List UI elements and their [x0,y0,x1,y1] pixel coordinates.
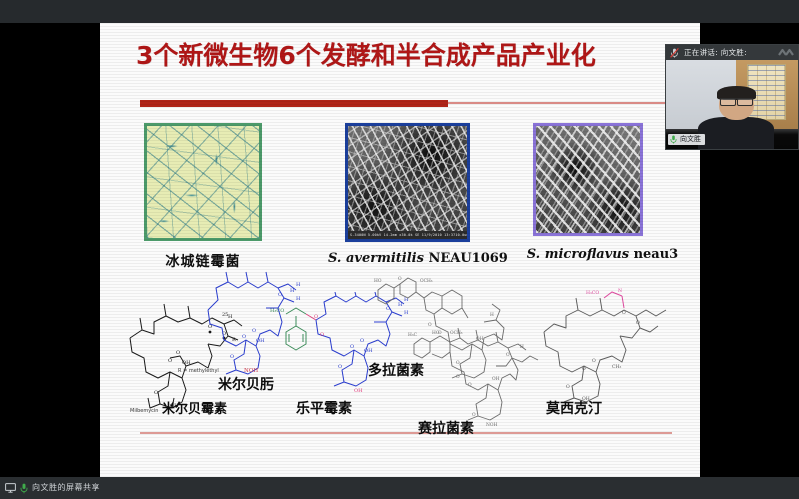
screen-share-status-label: 向文胜的屏幕共享 [32,484,100,492]
meeting-bottom-bar[interactable]: 向文胜的屏幕共享 [0,477,799,499]
svg-text:CH₃: CH₃ [612,364,622,370]
svg-text:H₃CO: H₃CO [270,308,284,314]
speaker-video-panel[interactable]: 正在讲话: 向文胜: [665,44,799,150]
svg-text:O: O [622,310,626,316]
svg-text:OH: OH [256,338,265,344]
svg-text:O: O [320,332,324,338]
mic-icon [670,135,677,144]
species-italic: S. avermitilis [328,251,424,266]
svg-text:O: O [230,354,234,360]
strain-plain: NEAU1069 [424,251,508,266]
micrograph-s-avermitilis: S-3400N 5.00kV 14.2mm x30.0k SE 11/9/201… [328,123,488,242]
svg-text:OH: OH [182,360,191,366]
sem-info-strip: S-3400N 5.00kV 14.2mm x30.0k SE 11/9/201… [348,231,467,239]
speaker-glasses [720,98,753,104]
svg-text:O: O [176,350,180,356]
speaker-video-feed[interactable]: 向文胜 [666,60,798,150]
compound-label-milbemycin: 米尔贝霉素 [162,398,227,417]
speaker-video-header[interactable]: 正在讲话: 向文胜: [666,45,798,60]
shared-slide: 3个新微生物6个发酵和半合成产品产业化 冰城链霉菌 S-3400N 5.00kV… [100,23,700,477]
compound-label-doramectin: 多拉菌素 [368,360,424,380]
svg-text:O: O [168,358,172,364]
svg-text:H: H [296,282,301,288]
svg-text:O: O [350,344,354,350]
mic-muted-icon[interactable] [670,48,679,58]
micrograph-image [147,126,259,238]
svg-text:O: O [360,338,364,344]
compound-r-note: R = methylethyl [178,368,219,374]
micrograph-caption: 冰城链霉菌 [138,251,268,271]
svg-text:H₃CO: H₃CO [586,290,599,296]
svg-text:O: O [398,277,402,282]
sem-info-left: S-3400N 5.00kV 14.2mm x30.0k SE 11/9/201… [350,233,455,237]
structure-moxidectin: H₃CON OO OO CH₃OH O [538,284,673,406]
svg-text:O: O [506,353,510,358]
speaker-banner-label: 正在讲话: 向文胜: [684,49,747,57]
svg-text:OH: OH [492,377,500,382]
micrograph-frame [533,123,643,236]
svg-text:OCH₃: OCH₃ [420,279,433,284]
micrograph-image [348,126,467,239]
svg-text:O: O [456,375,460,380]
species-italic: S. microflavus [527,247,629,262]
compound-label-lepimectin: 乐平霉素 [296,398,352,418]
svg-text:O: O [566,384,570,390]
compound-label-milbemycin-oxime: 米尔贝肟 [218,374,274,394]
svg-text:O: O [314,314,318,320]
mic-icon [20,483,28,494]
svg-text:N: N [618,288,622,294]
sem-scale-bar: 10.0um [455,233,468,237]
micrograph-row: 冰城链霉菌 S-3400N 5.00kV 14.2mm x30.0k SE 11… [100,123,700,283]
svg-text:HO: HO [432,331,440,336]
micrograph-bingcheng-streptomyces: 冰城链霉菌 [138,123,268,241]
svg-text:OCH₃: OCH₃ [450,331,463,336]
compound-label-moxidectin: 莫西克汀 [546,398,602,418]
svg-text:H₃C: H₃C [408,333,418,338]
title-rule-thick [140,100,448,107]
micrograph-caption: S. avermitilis NEAU1069 [328,251,488,266]
svg-text:HO: HO [374,279,382,284]
compound-latin-name: Milbemycin [130,408,158,414]
micrograph-caption: S. microflavus neau3 [520,247,685,262]
svg-text:O: O [338,364,342,370]
micrograph-frame: S-3400N 5.00kV 14.2mm x30.0k SE 11/9/201… [345,123,470,242]
monitor-icon [5,483,16,493]
chevron-collapse-icon[interactable] [778,48,794,57]
compound-label-selamectin: 赛拉菌素 [418,418,474,438]
svg-text:NOH: NOH [486,423,497,428]
svg-text:H: H [520,345,524,350]
svg-text:O: O [154,390,158,396]
svg-text:O: O [468,383,472,388]
svg-text:O: O [636,320,640,326]
svg-text:H: H [490,313,494,318]
svg-text:O: O [252,328,256,334]
svg-text:OH: OH [354,388,363,394]
compound-row: OO HR 25 OO OHOH O R = methylethyl Milbe… [100,278,700,433]
micrograph-image [536,126,640,233]
speaker-body [698,117,775,150]
screen-share-viewer: 3个新微生物6个发酵和半合成产品产业化 冰城链霉菌 S-3400N 5.00kV… [0,0,799,499]
strain-plain: neau3 [629,247,678,262]
meeting-top-bar [0,0,799,23]
participant-name-label: 向文胜 [680,136,701,143]
micrograph-s-microflavus: S. microflavus neau3 [520,123,685,236]
svg-text:O: O [582,366,586,372]
footer-rule [140,432,672,434]
video-panel-controls[interactable] [778,48,794,57]
participant-name-badge: 向文胜 [668,134,705,145]
slide-title: 3个新微生物6个发酵和半合成产品产业化 [136,41,696,71]
micrograph-frame [144,123,262,241]
svg-text:O: O [592,358,596,364]
svg-text:O: O [242,334,246,340]
